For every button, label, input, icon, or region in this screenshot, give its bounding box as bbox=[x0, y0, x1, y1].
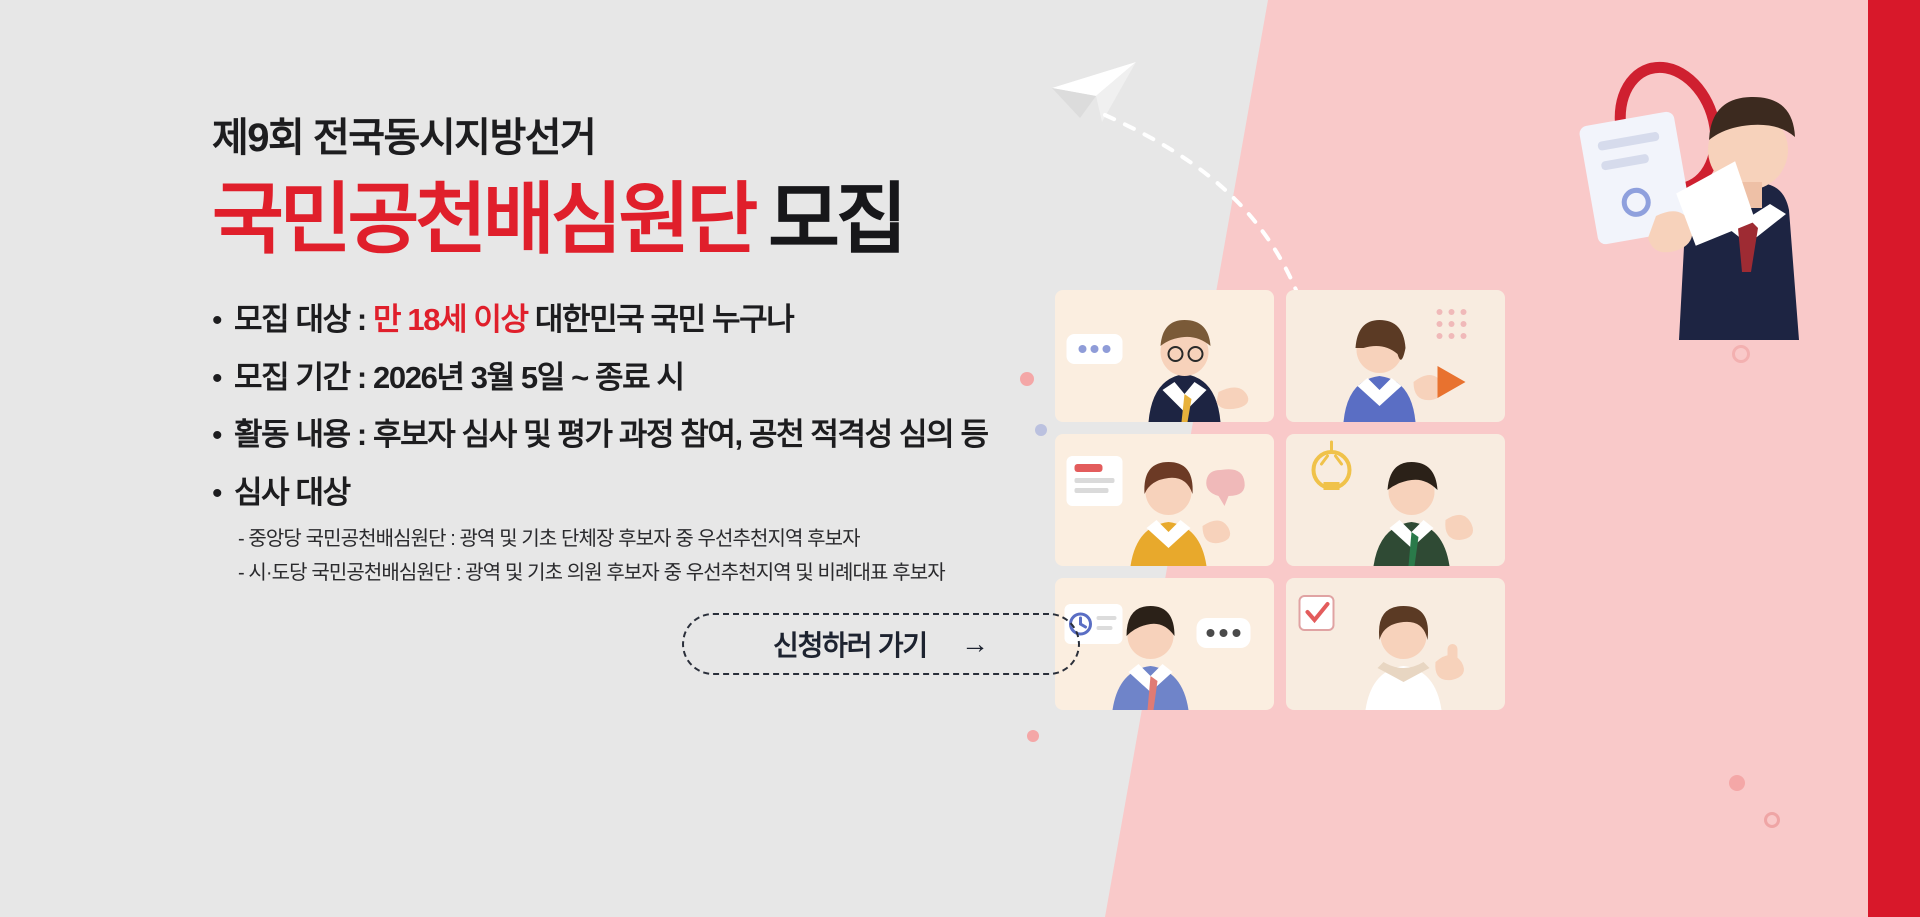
bullet-label-0: 모집 대상 : bbox=[234, 302, 373, 337]
bullet-dot-icon: • bbox=[212, 479, 234, 509]
subitem-list: - 중앙당 국민공천배심원단 : 광역 및 기초 단체장 후보자 중 우선추천지… bbox=[212, 529, 1105, 583]
bullet-tail-0: 대한민국 국민 누구나 bbox=[528, 302, 794, 337]
participant-tile-4 bbox=[1286, 434, 1505, 566]
subitem-central-party: - 중앙당 국민공천배심원단 : 광역 및 기초 단체장 후보자 중 우선추천지… bbox=[238, 529, 1105, 549]
headline-dark-part: 모집 bbox=[768, 175, 904, 263]
bullet-item-activity: • 활동 내용 : 후보자 심사 및 평가 과정 참여, 공천 적격성 심의 등 bbox=[212, 417, 1105, 453]
participant-tile-grid bbox=[1055, 290, 1505, 710]
bullet-item-period: • 모집 기간 : 2026년 3월 5일 ~ 종료 시 bbox=[212, 360, 1105, 396]
bullet-dot-icon: • bbox=[212, 421, 234, 451]
recruitment-banner: 제9회 전국동시지방선거 국민공천배심원단모집 • 모집 대상 : 만 18세 … bbox=[0, 0, 1920, 917]
bullet-text-period: 모집 기간 : 2026년 3월 5일 ~ 종료 시 bbox=[234, 360, 684, 396]
bullet-item-review-scope: • 심사 대상 bbox=[212, 475, 1105, 511]
arrow-right-icon: → bbox=[961, 630, 989, 658]
megaphone-presenter-icon bbox=[1480, 40, 1810, 340]
cta-container: 신청하러 가기 → bbox=[212, 613, 1105, 675]
bullet-text-activity: 활동 내용 : 후보자 심사 및 평가 과정 참여, 공천 적격성 심의 등 bbox=[234, 417, 988, 453]
bullet-text-review-scope: 심사 대상 bbox=[234, 475, 350, 511]
bullet-list: • 모집 대상 : 만 18세 이상 대한민국 국민 누구나 • 모집 기간 :… bbox=[212, 302, 1105, 583]
illustration-area bbox=[1105, 0, 1920, 917]
banner-eyebrow: 제9회 전국동시지방선거 bbox=[212, 118, 1105, 158]
subitem-city-province-party: - 시·도당 국민공천배심원단 : 광역 및 기초 의원 후보자 중 우선추천지… bbox=[238, 563, 1105, 583]
apply-button-label: 신청하러 가기 bbox=[773, 624, 927, 664]
bullet-dot-icon: • bbox=[212, 364, 234, 394]
bullet-dot-icon: • bbox=[212, 306, 234, 336]
bullet-text-target: 모집 대상 : 만 18세 이상 대한민국 국민 누구나 bbox=[234, 302, 793, 338]
banner-text-content: 제9회 전국동시지방선거 국민공천배심원단모집 • 모집 대상 : 만 18세 … bbox=[0, 0, 1105, 917]
participant-tile-2 bbox=[1286, 290, 1505, 422]
banner-headline: 국민공천배심원단모집 bbox=[212, 180, 1105, 258]
headline-red-part: 국민공천배심원단 bbox=[212, 175, 754, 263]
decor-ring-1 bbox=[1732, 345, 1750, 363]
bullet-highlight-0: 만 18세 이상 bbox=[373, 302, 528, 337]
decor-ring-2 bbox=[1764, 812, 1780, 828]
participant-tile-6 bbox=[1286, 578, 1505, 710]
apply-button[interactable]: 신청하러 가기 → bbox=[682, 613, 1080, 675]
bullet-item-target: • 모집 대상 : 만 18세 이상 대한민국 국민 누구나 bbox=[212, 302, 1105, 338]
decor-dot-4 bbox=[1729, 775, 1745, 791]
